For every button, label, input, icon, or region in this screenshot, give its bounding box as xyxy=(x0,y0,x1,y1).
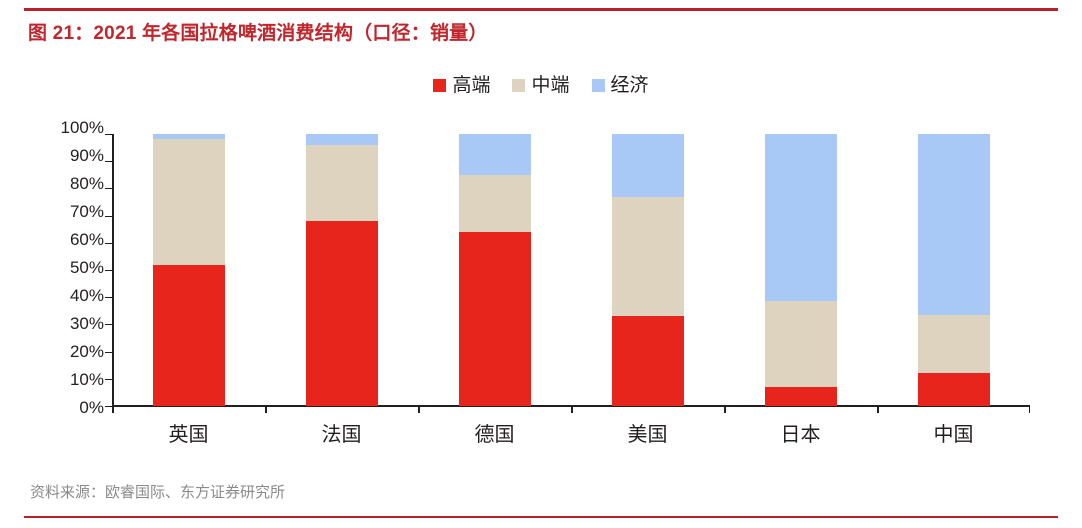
bar-slot xyxy=(571,134,724,406)
plot-area: 100% 90% 80% 70% 60% 50% 40% 30% 20% 10%… xyxy=(0,0,1082,528)
bar-segment[interactable] xyxy=(306,134,378,145)
stacked-bar[interactable] xyxy=(918,134,990,406)
y-tick-90: 90% xyxy=(70,146,104,166)
y-tick-10: 10% xyxy=(70,370,104,390)
bar-group xyxy=(112,134,1030,406)
y-axis-tick-mark xyxy=(105,352,112,353)
y-axis-tick-mark xyxy=(105,134,112,135)
y-tick-30: 30% xyxy=(70,314,104,334)
x-axis-label-1: 法国 xyxy=(265,418,418,447)
bar-segment[interactable] xyxy=(765,387,837,406)
bottom-rule xyxy=(24,516,1058,518)
x-axis-tick-mark xyxy=(724,406,726,413)
y-axis-tick-mark xyxy=(105,379,112,380)
x-axis-label-4: 日本 xyxy=(724,418,877,447)
stacked-bar[interactable] xyxy=(765,134,837,406)
bar-segment[interactable] xyxy=(765,301,837,387)
x-axis-tick-mark xyxy=(418,406,420,413)
y-tick-70: 70% xyxy=(70,202,104,222)
x-axis-label-3: 美国 xyxy=(571,418,724,447)
y-axis-tick-mark xyxy=(105,406,112,407)
x-axis-tick-mark xyxy=(265,406,267,413)
x-axis-tick-labels: 英国法国德国美国日本中国 xyxy=(112,418,1030,447)
y-axis-tick-mark xyxy=(105,324,112,325)
bar-segment[interactable] xyxy=(612,316,684,406)
y-tick-20: 20% xyxy=(70,342,104,362)
y-tick-60: 60% xyxy=(70,230,104,250)
bar-segment[interactable] xyxy=(918,373,990,406)
bar-slot xyxy=(265,134,418,406)
y-axis-tick-mark xyxy=(105,216,112,217)
bar-slot xyxy=(724,134,877,406)
bar-segment[interactable] xyxy=(612,197,684,317)
bar-segment[interactable] xyxy=(918,315,990,373)
y-tick-100: 100% xyxy=(61,118,104,138)
y-tick-50: 50% xyxy=(70,258,104,278)
stacked-bar[interactable] xyxy=(612,134,684,406)
x-axis-tick-mark xyxy=(112,406,114,413)
bar-segment[interactable] xyxy=(459,232,531,406)
figure-container: 图 21：2021 年各国拉格啤酒消费结构（口径：销量） 高端 中端 经济 10… xyxy=(0,0,1082,528)
x-axis-tick-mark xyxy=(1029,406,1031,413)
source-note: 资料来源：欧睿国际、东方证券研究所 xyxy=(30,481,285,502)
x-axis-tick-mark xyxy=(877,406,879,413)
stacked-bar[interactable] xyxy=(306,134,378,406)
y-axis-tick-mark xyxy=(105,161,112,162)
bar-segment[interactable] xyxy=(459,175,531,232)
bar-segment[interactable] xyxy=(153,139,225,264)
bar-segment[interactable] xyxy=(612,134,684,197)
y-tick-80: 80% xyxy=(70,174,104,194)
y-tick-40: 40% xyxy=(70,286,104,306)
x-axis-label-0: 英国 xyxy=(112,418,265,447)
bar-segment[interactable] xyxy=(459,134,531,175)
x-axis-label-2: 德国 xyxy=(418,418,571,447)
y-axis-tick-mark xyxy=(105,243,112,244)
stacked-bar[interactable] xyxy=(459,134,531,406)
y-axis-tick-labels: 100% 90% 80% 70% 60% 50% 40% 30% 20% 10%… xyxy=(36,128,104,408)
y-tick-0: 0% xyxy=(79,398,104,418)
bar-segment[interactable] xyxy=(306,221,378,406)
y-axis-tick-mark xyxy=(105,188,112,189)
x-axis-label-5: 中国 xyxy=(877,418,1030,447)
y-axis-tick-mark xyxy=(105,297,112,298)
bar-slot xyxy=(418,134,571,406)
bar-segment[interactable] xyxy=(306,145,378,221)
stacked-bar[interactable] xyxy=(153,134,225,406)
bar-slot xyxy=(877,134,1030,406)
bar-segment[interactable] xyxy=(918,134,990,315)
bar-slot xyxy=(112,134,265,406)
x-axis-tick-mark xyxy=(571,406,573,413)
bar-segment[interactable] xyxy=(765,134,837,301)
bar-segment[interactable] xyxy=(153,265,225,406)
y-axis-tick-mark xyxy=(105,270,112,271)
